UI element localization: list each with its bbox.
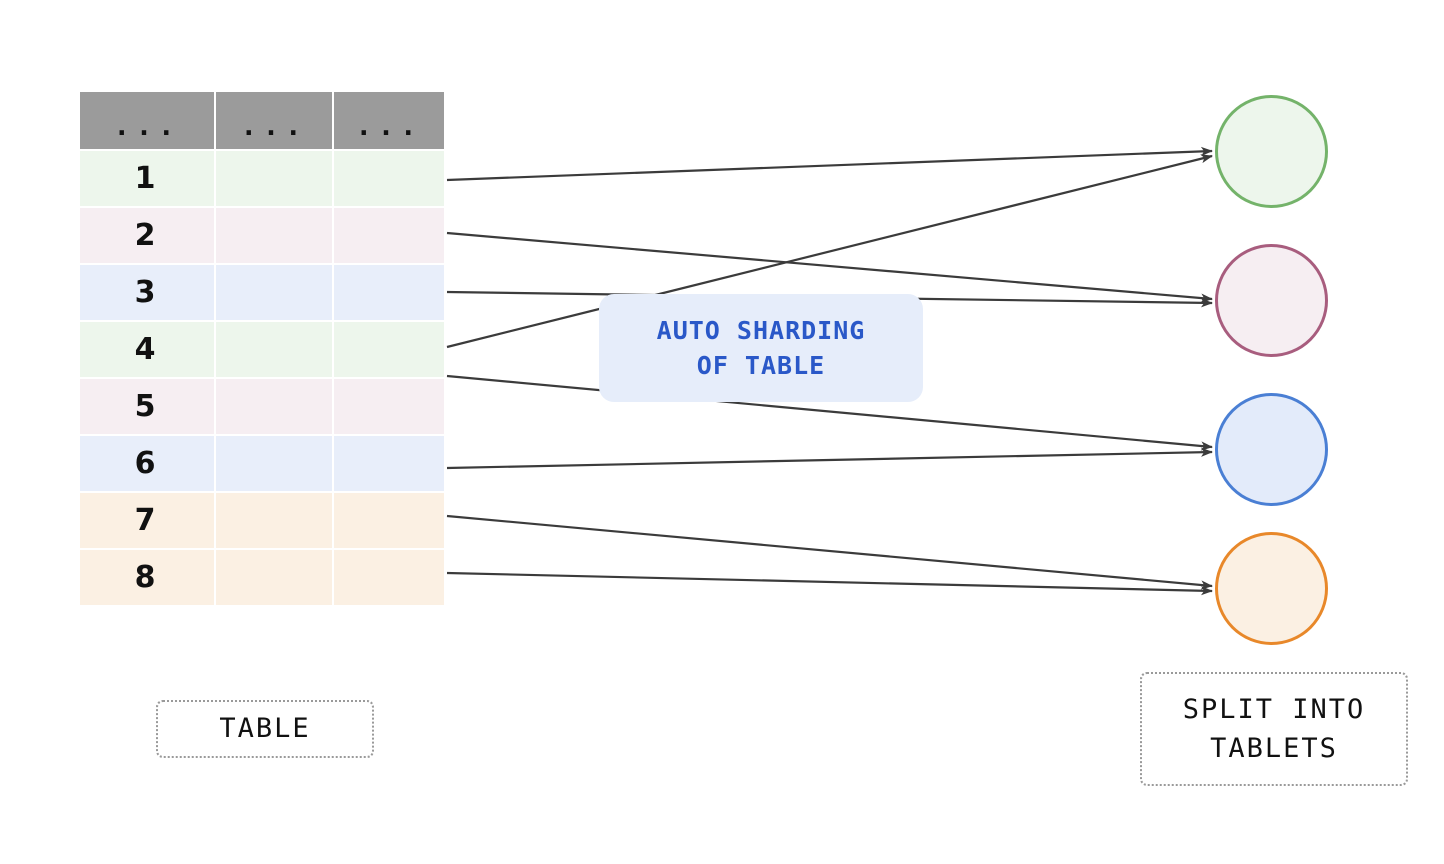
table-cell: [216, 208, 334, 265]
table-row: 6: [80, 436, 444, 493]
table-caption-text: TABLE: [219, 709, 310, 748]
connector-row-2-to-tablet-pink: [447, 233, 1212, 299]
table-cell: [216, 436, 334, 493]
tablets-caption-line-2: TABLETS: [1210, 729, 1338, 768]
table-cell: 2: [80, 208, 216, 265]
table-cell: [216, 379, 334, 436]
ellipsis-icon: ...: [114, 113, 181, 140]
table-row: 2: [80, 208, 444, 265]
table-cell: [334, 550, 444, 607]
table-cell: 1: [80, 151, 216, 208]
table-row: 3: [80, 265, 444, 322]
row-number: 3: [135, 275, 156, 310]
tablet-orange: [1215, 532, 1328, 645]
table-cell: [216, 265, 334, 322]
row-number: 4: [135, 332, 156, 367]
table-cell: [334, 493, 444, 550]
callout-line-1: AUTO SHARDING: [657, 313, 866, 349]
table-cell: 7: [80, 493, 216, 550]
table-header-cell: ...: [334, 92, 444, 151]
table-cell: 5: [80, 379, 216, 436]
table-cell: [334, 265, 444, 322]
tablet-green: [1215, 95, 1328, 208]
table-cell: 3: [80, 265, 216, 322]
table-cell: 8: [80, 550, 216, 607]
table-cell: [216, 322, 334, 379]
auto-sharding-callout: AUTO SHARDING OF TABLE: [599, 294, 923, 402]
table-row: 5: [80, 379, 444, 436]
ellipsis-icon: ...: [356, 113, 423, 140]
table-caption: TABLE: [156, 700, 374, 758]
table-header-row: ... ... ...: [80, 92, 444, 151]
table-cell: [216, 550, 334, 607]
connector-row-6-to-tablet-blue: [447, 452, 1212, 468]
tablet-pink: [1215, 244, 1328, 357]
table-cell: 6: [80, 436, 216, 493]
table-cell: [334, 379, 444, 436]
table-header-cell: ...: [216, 92, 334, 151]
table-cell: [334, 151, 444, 208]
tablets-caption: SPLIT INTO TABLETS: [1140, 672, 1408, 786]
source-table: ... ... ... 12345678: [80, 92, 444, 607]
table-cell: [216, 151, 334, 208]
table-row: 4: [80, 322, 444, 379]
table-row: 8: [80, 550, 444, 607]
table-cell: [334, 436, 444, 493]
table-row: 1: [80, 151, 444, 208]
row-number: 5: [135, 389, 156, 424]
callout-line-2: OF TABLE: [697, 348, 825, 384]
table-body: 12345678: [80, 151, 444, 607]
table-row: 7: [80, 493, 444, 550]
row-number: 7: [135, 503, 156, 538]
tablets-caption-line-1: SPLIT INTO: [1183, 690, 1366, 729]
table-cell: [334, 208, 444, 265]
table-header-cell: ...: [80, 92, 216, 151]
table-cell: 4: [80, 322, 216, 379]
row-number: 6: [135, 446, 156, 481]
tablet-blue: [1215, 393, 1328, 506]
row-number: 2: [135, 218, 156, 253]
ellipsis-icon: ...: [241, 113, 308, 140]
row-number: 8: [135, 560, 156, 595]
connector-row-1-to-tablet-green: [447, 151, 1212, 180]
table-cell: [334, 322, 444, 379]
table-cell: [216, 493, 334, 550]
diagram-canvas: ... ... ... 12345678 AUTO SHARDING OF TA…: [0, 0, 1444, 864]
row-number: 1: [135, 161, 156, 196]
